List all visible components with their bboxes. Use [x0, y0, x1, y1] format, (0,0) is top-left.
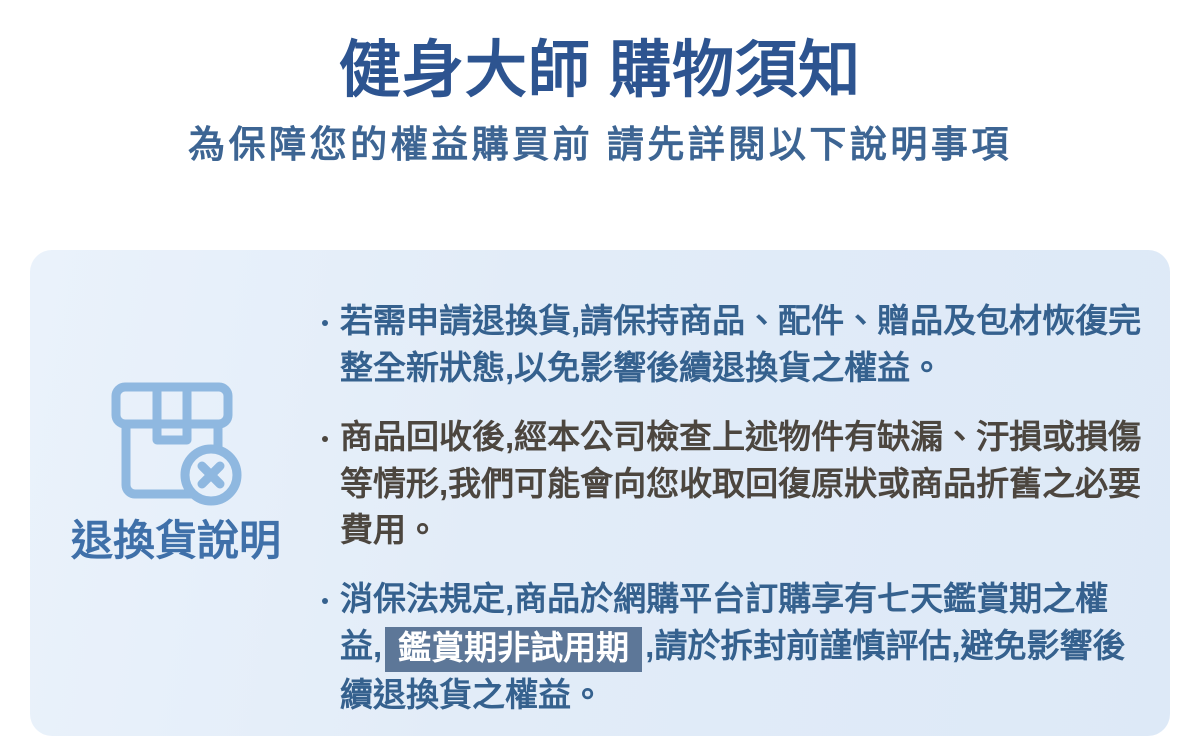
- panel-icon-label: 退換貨說明: [71, 520, 281, 562]
- panel-text-column: 若需申請退換貨,請保持商品、配件、贈品及包材恢復完整全新狀態,以免影響後續退換貨…: [322, 250, 1170, 719]
- return-package-icon: [110, 382, 242, 506]
- page-title: 健身大師 購物須知: [0, 0, 1200, 105]
- bullet-dot-icon: [322, 298, 340, 326]
- return-policy-panel: 退換貨說明 若需申請退換貨,請保持商品、配件、贈品及包材恢復完整全新狀態,以免影…: [30, 250, 1170, 736]
- bullet-text-return-condition: 若需申請退換貨,請保持商品、配件、贈品及包材恢復完整全新狀態,以免影響後續退換貨…: [340, 298, 1142, 392]
- page-header: 健身大師 購物須知 為保障您的權益購買前 請先詳閱以下說明事項: [0, 0, 1200, 167]
- page-subtitle: 為保障您的權益購買前 請先詳閱以下說明事項: [0, 105, 1200, 167]
- bullet-dot-icon: [322, 414, 340, 442]
- bullet-dot-icon: [322, 576, 340, 604]
- bullet-text-inspection-fee: 商品回收後,經本公司檢查上述物件有缺漏、汙損或損傷等情形,我們可能會向您收取回復…: [340, 414, 1142, 555]
- list-item: 消保法規定,商品於網購平台訂購享有七天鑑賞期之權益,鑑賞期非試用期,請於拆封前謹…: [322, 576, 1142, 719]
- panel-icon-column: 退換貨說明: [30, 250, 322, 562]
- list-item: 若需申請退換貨,請保持商品、配件、贈品及包材恢復完整全新狀態,以免影響後續退換貨…: [322, 298, 1142, 392]
- list-item: 商品回收後,經本公司檢查上述物件有缺漏、汙損或損傷等情形,我們可能會向您收取回復…: [322, 414, 1142, 555]
- status-badge-appraisal-not-trial: 鑑賞期非試用期: [385, 627, 642, 672]
- bullet-text-seven-day-period: 消保法規定,商品於網購平台訂購享有七天鑑賞期之權益,鑑賞期非試用期,請於拆封前謹…: [340, 576, 1142, 719]
- shopping-notice-page: 健身大師 購物須知 為保障您的權益購買前 請先詳閱以下說明事項 退換貨說明: [0, 0, 1200, 756]
